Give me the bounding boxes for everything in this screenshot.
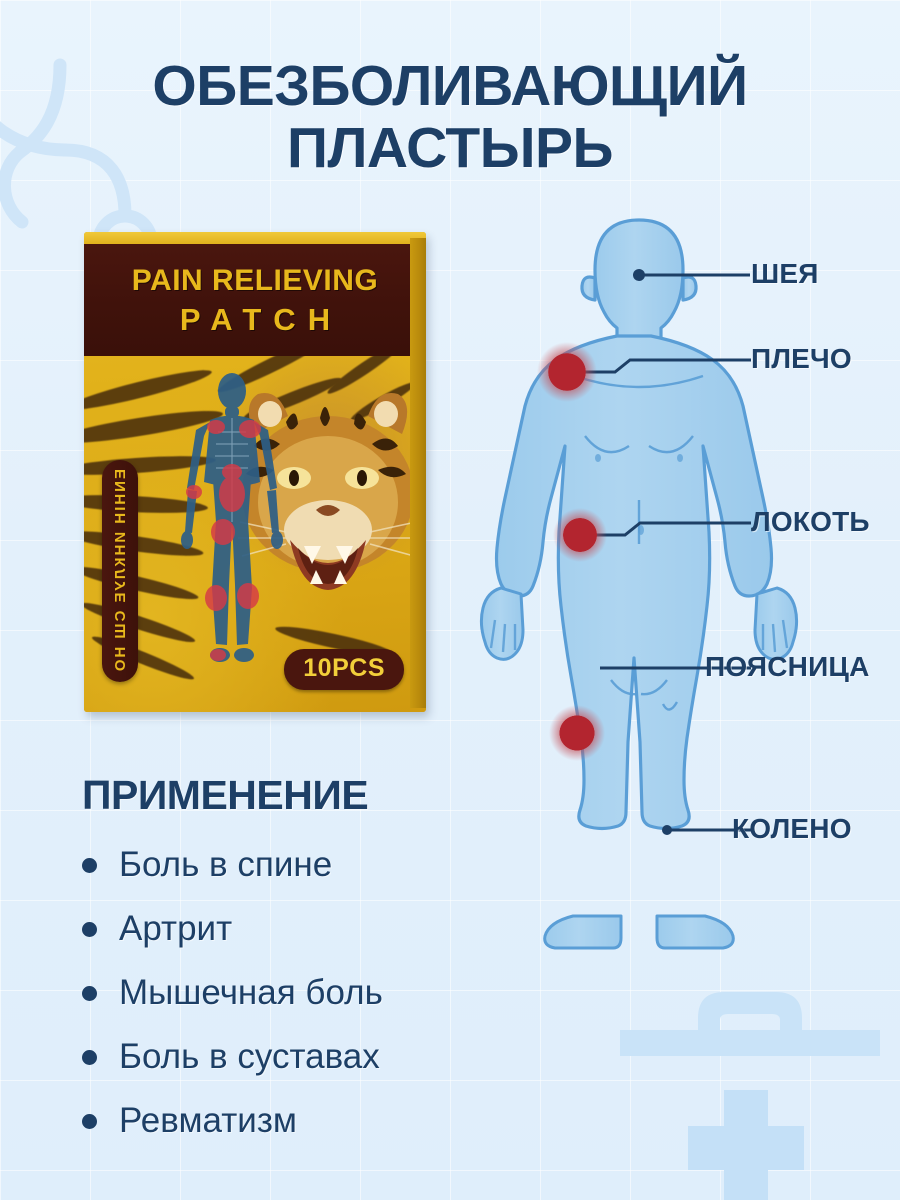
label-shoulder: ПЛЕЧО <box>751 343 852 375</box>
patch-text: PATCH <box>168 304 342 335</box>
quantity-badge: 10PCS <box>284 649 404 690</box>
bullet-icon <box>82 1114 97 1129</box>
label-neck: ШЕЯ <box>751 258 819 290</box>
bullet-icon <box>82 858 97 873</box>
box-right-edge <box>410 238 426 708</box>
usage-item-label: Мышечная боль <box>119 973 383 1013</box>
usage-item-label: Боль в суставах <box>119 1037 380 1077</box>
neck-point-marker <box>633 269 645 281</box>
usage-heading: ПРИМЕНЕНИЕ <box>82 772 502 819</box>
label-lower-back: ПОЯСНИЦА <box>705 651 870 683</box>
pain-relieving-text: PAIN RELIEVING <box>132 266 378 296</box>
product-box: PAIN RELIEVING PATCH <box>84 232 426 712</box>
body-pain-diagram: ШЕЯ ПЛЕЧО ЛОКОТЬ ПОЯСНИЦА КОЛЕНО <box>455 200 900 960</box>
anatomical-figure-illustration <box>180 372 284 672</box>
label-elbow: ЛОКОТЬ <box>751 506 870 538</box>
shoulder-pain-marker <box>537 342 597 402</box>
bullet-icon <box>82 986 97 1001</box>
body-figure-svg <box>455 200 900 960</box>
knee-point-marker <box>662 825 672 835</box>
product-box-face: PAIN RELIEVING PATCH <box>84 232 426 712</box>
usage-section: ПРИМЕНЕНИЕ Боль в спине Артрит Мышечная … <box>82 772 502 1165</box>
list-item: Боль в спине <box>82 845 502 885</box>
label-knee: КОЛЕНО <box>732 813 852 845</box>
usage-item-label: Боль в спине <box>119 845 332 885</box>
box-side-label: ЕNНIН ИНКЛУЕ СШ НО <box>102 460 138 682</box>
list-item: Артрит <box>82 909 502 949</box>
page-title: ОБЕЗБОЛИВАЮЩИЙ ПЛАСТЫРЬ <box>0 56 900 179</box>
elbow-pain-marker <box>553 508 607 562</box>
box-header-band: PAIN RELIEVING PATCH <box>84 244 426 356</box>
list-item: Ревматизм <box>82 1101 502 1141</box>
title-line-1: ОБЕЗБОЛИВАЮЩИЙ <box>152 54 747 118</box>
usage-item-label: Артрит <box>119 909 232 949</box>
first-aid-kit-watermark <box>620 970 880 1200</box>
usage-list: Боль в спине Артрит Мышечная боль Боль в… <box>82 845 502 1141</box>
bullet-icon <box>82 922 97 937</box>
box-side-label-text: ЕNНIН ИНКЛУЕ СШ НО <box>112 469 129 673</box>
list-item: Боль в суставах <box>82 1037 502 1077</box>
list-item: Мышечная боль <box>82 973 502 1013</box>
bullet-icon <box>82 1050 97 1065</box>
infographic-page: ОБЕЗБОЛИВАЮЩИЙ ПЛАСТЫРЬ <box>0 0 900 1200</box>
knee-pain-marker <box>549 705 605 761</box>
usage-item-label: Ревматизм <box>119 1101 297 1141</box>
title-line-2: ПЛАСТЫРЬ <box>0 118 900 180</box>
